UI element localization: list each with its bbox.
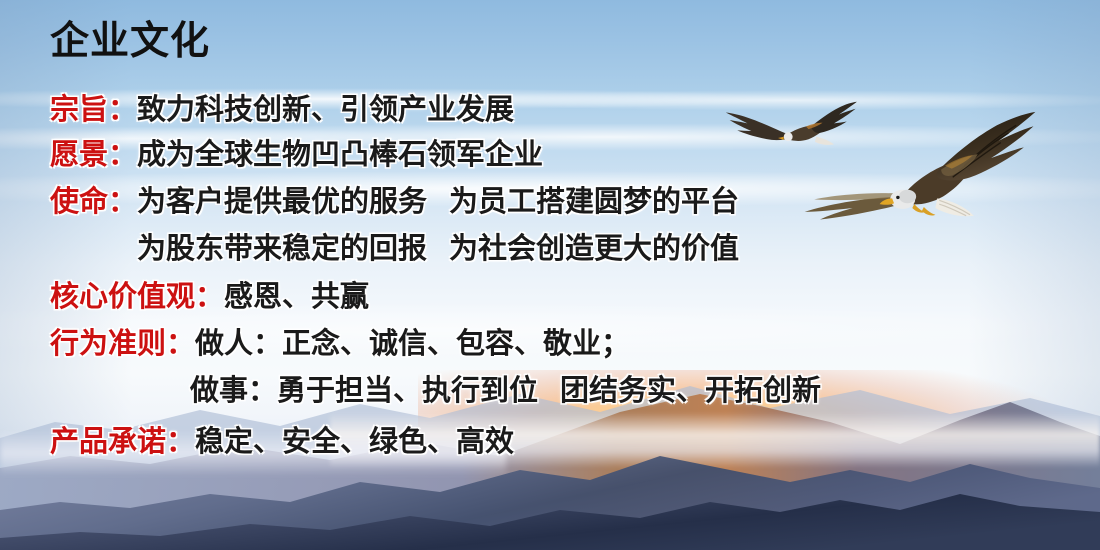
culture-line-text-2: 为社会创造更大的价值 <box>449 233 739 265</box>
culture-line-label: 产品承诺： <box>50 426 195 458</box>
culture-slide: 企业文化 宗旨：致力科技创新、引领产业发展 愿景：成为全球生物凹凸棒石领军企业 … <box>0 0 1100 550</box>
culture-line: 为股东带来稳定的回报为社会创造更大的价值 <box>137 235 739 264</box>
culture-line-label: 使命： <box>50 186 137 218</box>
culture-line-text-2: 为员工搭建圆梦的平台 <box>449 186 739 218</box>
culture-line-text: 做事：勇于担当、执行到位 <box>190 375 538 407</box>
culture-line: 宗旨：致力科技创新、引领产业发展 <box>50 96 514 125</box>
culture-line: 使命：为客户提供最优的服务为员工搭建圆梦的平台 <box>50 188 739 217</box>
culture-line: 做事：勇于担当、执行到位团结务实、开拓创新 <box>190 377 821 406</box>
page-title: 企业文化 <box>50 22 210 61</box>
culture-line-text: 做人：正念、诚信、包容、敬业； <box>195 328 630 360</box>
culture-line-text: 致力科技创新、引领产业发展 <box>137 94 514 126</box>
culture-line-label: 核心价值观： <box>50 281 224 313</box>
text-content: 企业文化 宗旨：致力科技创新、引领产业发展 愿景：成为全球生物凹凸棒石领军企业 … <box>0 0 1100 550</box>
culture-line: 行为准则：做人：正念、诚信、包容、敬业； <box>50 330 630 359</box>
culture-line: 核心价值观：感恩、共赢 <box>50 283 369 312</box>
culture-line: 愿景：成为全球生物凹凸棒石领军企业 <box>50 141 543 170</box>
culture-line-text-2: 团结务实、开拓创新 <box>560 375 821 407</box>
culture-line-label: 愿景： <box>50 139 137 171</box>
culture-line: 产品承诺：稳定、安全、绿色、高效 <box>50 428 514 457</box>
culture-line-label: 行为准则： <box>50 328 195 360</box>
culture-line-text: 为客户提供最优的服务 <box>137 186 427 218</box>
culture-line-text: 为股东带来稳定的回报 <box>137 233 427 265</box>
culture-line-text: 稳定、安全、绿色、高效 <box>195 426 514 458</box>
culture-line-label: 宗旨： <box>50 94 137 126</box>
culture-line-text: 成为全球生物凹凸棒石领军企业 <box>137 139 543 171</box>
culture-line-text: 感恩、共赢 <box>224 281 369 313</box>
